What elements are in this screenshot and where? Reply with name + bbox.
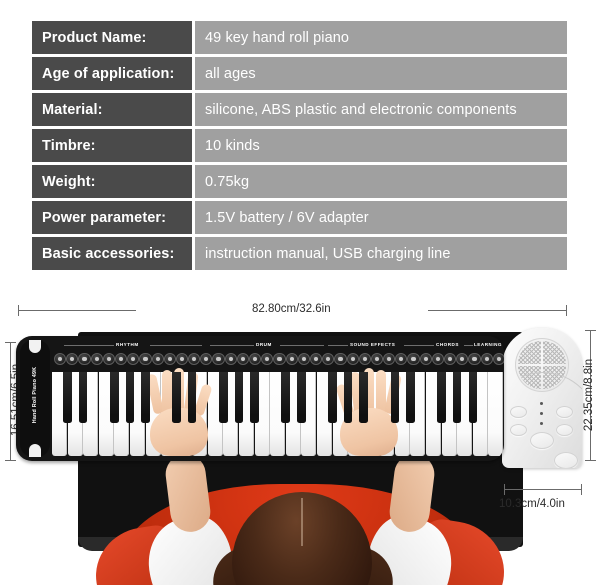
group-rule xyxy=(150,345,202,346)
piano-panel-button[interactable] xyxy=(249,353,261,365)
dimension-label-width: 82.80cm/32.6in xyxy=(252,303,331,315)
piano-panel-button[interactable] xyxy=(395,353,407,365)
speaker-button[interactable] xyxy=(554,452,578,468)
piano-control-panel[interactable]: RHYTHM DRUM SOUND EFFECTS CHORDS LEARNIN… xyxy=(52,338,502,371)
group-rule xyxy=(64,345,114,346)
group-label-rhythm: RHYTHM xyxy=(116,342,139,347)
piano-black-key[interactable] xyxy=(219,372,228,423)
piano-panel-button[interactable] xyxy=(298,353,310,365)
piano-panel-button[interactable] xyxy=(286,353,298,365)
dimension-tick-speaker-left xyxy=(504,484,505,495)
table-row: Age of application: all ages xyxy=(32,57,567,90)
spec-value: 10 kinds xyxy=(192,129,567,162)
spec-key: Age of application: xyxy=(32,57,192,90)
spec-key: Material: xyxy=(32,93,192,126)
piano-panel-button[interactable] xyxy=(456,353,468,365)
piano-black-key[interactable] xyxy=(406,372,415,423)
piano-panel-button[interactable] xyxy=(359,353,371,365)
piano-notch-top xyxy=(29,340,41,353)
piano-panel-button[interactable] xyxy=(188,353,200,365)
piano-panel-button[interactable] xyxy=(139,353,151,365)
product-dimension-diagram: 82.80cm/32.6in 16.51cm/6.5in 22.35cm/8.8… xyxy=(0,296,600,585)
spec-key: Power parameter: xyxy=(32,201,192,234)
grille-quadrant xyxy=(518,341,541,364)
dimension-line-speaker-width xyxy=(504,489,582,490)
hand-roll-piano[interactable]: Hand Roll Piano 49K RHYTHM DRUM SOUND EF… xyxy=(16,336,504,461)
piano-keyboard[interactable] xyxy=(52,372,504,458)
piano-black-key[interactable] xyxy=(79,372,88,423)
status-led xyxy=(540,412,543,415)
spec-value: all ages xyxy=(192,57,567,90)
spec-table-body: Product Name: 49 key hand roll piano Age… xyxy=(32,21,567,270)
group-rule xyxy=(464,345,473,346)
dimension-tick-speaker-right xyxy=(581,484,582,495)
group-rule xyxy=(424,345,434,346)
spec-key: Weight: xyxy=(32,165,192,198)
piano-panel-button[interactable] xyxy=(468,353,480,365)
spec-value: 49 key hand roll piano xyxy=(192,21,567,54)
speaker-button[interactable] xyxy=(556,406,573,418)
dimension-tick-speaker-bottom xyxy=(585,460,596,461)
piano-panel-button[interactable] xyxy=(237,353,249,365)
piano-black-key[interactable] xyxy=(110,372,119,423)
piano-panel-button[interactable] xyxy=(334,353,346,365)
piano-notch-bottom xyxy=(29,444,41,457)
piano-panel-button[interactable] xyxy=(322,353,334,365)
piano-panel-button[interactable] xyxy=(176,353,188,365)
piano-panel-button[interactable] xyxy=(54,353,66,365)
spec-value: silicone, ABS plastic and electronic com… xyxy=(192,93,567,126)
piano-black-key[interactable] xyxy=(453,372,462,423)
table-row: Product Name: 49 key hand roll piano xyxy=(32,21,567,54)
piano-black-key[interactable] xyxy=(391,372,400,423)
status-led xyxy=(540,422,543,425)
piano-panel-button[interactable] xyxy=(347,353,359,365)
spec-key: Basic accessories: xyxy=(32,237,192,270)
group-rule xyxy=(404,345,424,346)
piano-black-key[interactable] xyxy=(188,372,197,423)
dimension-tick-left xyxy=(18,305,19,316)
piano-white-key[interactable] xyxy=(488,372,503,456)
piano-panel-button[interactable] xyxy=(115,353,127,365)
piano-panel-button[interactable] xyxy=(407,353,419,365)
piano-black-key[interactable] xyxy=(469,372,478,423)
speaker-button[interactable] xyxy=(510,424,527,436)
piano-panel-button[interactable] xyxy=(66,353,78,365)
speaker-button[interactable] xyxy=(510,406,527,418)
piano-black-key[interactable] xyxy=(437,372,446,423)
piano-panel-button[interactable] xyxy=(152,353,164,365)
group-label-chords: CHORDS xyxy=(436,342,459,347)
speaker-module[interactable] xyxy=(502,328,582,468)
dimension-tick-right xyxy=(566,305,567,316)
piano-panel-button[interactable] xyxy=(432,353,444,365)
piano-panel-button[interactable] xyxy=(420,353,432,365)
table-row: Material: silicone, ABS plastic and elec… xyxy=(32,93,567,126)
group-rule xyxy=(210,345,254,346)
dimension-line-width-left xyxy=(18,310,136,311)
group-label-learning: LEARNING xyxy=(474,342,502,347)
piano-panel-button[interactable] xyxy=(261,353,273,365)
piano-black-key[interactable] xyxy=(63,372,72,423)
piano-panel-button[interactable] xyxy=(493,353,504,365)
dimension-tick-speaker-top xyxy=(585,330,596,331)
piano-panel-button[interactable] xyxy=(371,353,383,365)
piano-panel-button[interactable] xyxy=(91,353,103,365)
piano-black-key[interactable] xyxy=(359,372,368,423)
piano-panel-button[interactable] xyxy=(103,353,115,365)
table-row: Basic accessories: instruction manual, U… xyxy=(32,237,567,270)
piano-black-key[interactable] xyxy=(235,372,244,423)
piano-panel-button[interactable] xyxy=(273,353,285,365)
product-spec-table: Product Name: 49 key hand roll piano Age… xyxy=(32,18,567,273)
piano-panel-button[interactable] xyxy=(164,353,176,365)
table-row: Weight: 0.75kg xyxy=(32,165,567,198)
piano-button-row[interactable] xyxy=(52,349,502,369)
spec-key: Timbre: xyxy=(32,129,192,162)
group-rule xyxy=(328,345,348,346)
piano-panel-button[interactable] xyxy=(225,353,237,365)
spec-key: Product Name: xyxy=(32,21,192,54)
piano-black-key[interactable] xyxy=(250,372,259,423)
piano-black-key[interactable] xyxy=(328,372,337,423)
group-label-sound-effects: SOUND EFFECTS xyxy=(350,342,395,347)
piano-black-key[interactable] xyxy=(344,372,353,423)
dimension-label-speaker-width: 10.3cm/4.0in xyxy=(499,498,565,510)
dimension-tick-bottom xyxy=(5,460,16,461)
piano-panel-button[interactable] xyxy=(481,353,493,365)
piano-panel-button[interactable] xyxy=(200,353,212,365)
group-label-drum: DRUM xyxy=(256,342,272,347)
status-led xyxy=(540,402,543,405)
table-row: Power parameter: 1.5V battery / 6V adapt… xyxy=(32,201,567,234)
piano-black-key[interactable] xyxy=(297,372,306,423)
piano-panel-button[interactable] xyxy=(78,353,90,365)
piano-panel-button[interactable] xyxy=(444,353,456,365)
dimension-line-width-right xyxy=(428,310,567,311)
piano-black-key[interactable] xyxy=(141,372,150,423)
piano-panel-button[interactable] xyxy=(383,353,395,365)
speaker-button-main[interactable] xyxy=(530,432,554,449)
spec-value: 1.5V battery / 6V adapter xyxy=(192,201,567,234)
piano-black-key[interactable] xyxy=(281,372,290,423)
table-row: Timbre: 10 kinds xyxy=(32,129,567,162)
piano-panel-button[interactable] xyxy=(310,353,322,365)
spec-value: 0.75kg xyxy=(192,165,567,198)
group-rule xyxy=(280,345,324,346)
piano-black-key[interactable] xyxy=(126,372,135,423)
dimension-label-speaker-height: 22.35cm/8.8in xyxy=(583,347,595,443)
piano-brand-strip: Hand Roll Piano 49K xyxy=(20,340,50,457)
spec-value: instruction manual, USB charging line xyxy=(192,237,567,270)
piano-panel-button[interactable] xyxy=(212,353,224,365)
speaker-button[interactable] xyxy=(556,424,573,436)
piano-black-key[interactable] xyxy=(172,372,181,423)
piano-brand-label: Hand Roll Piano 49K xyxy=(32,353,38,437)
grille-quadrant xyxy=(543,341,566,364)
piano-panel-button[interactable] xyxy=(127,353,139,365)
dimension-tick-top xyxy=(5,342,16,343)
